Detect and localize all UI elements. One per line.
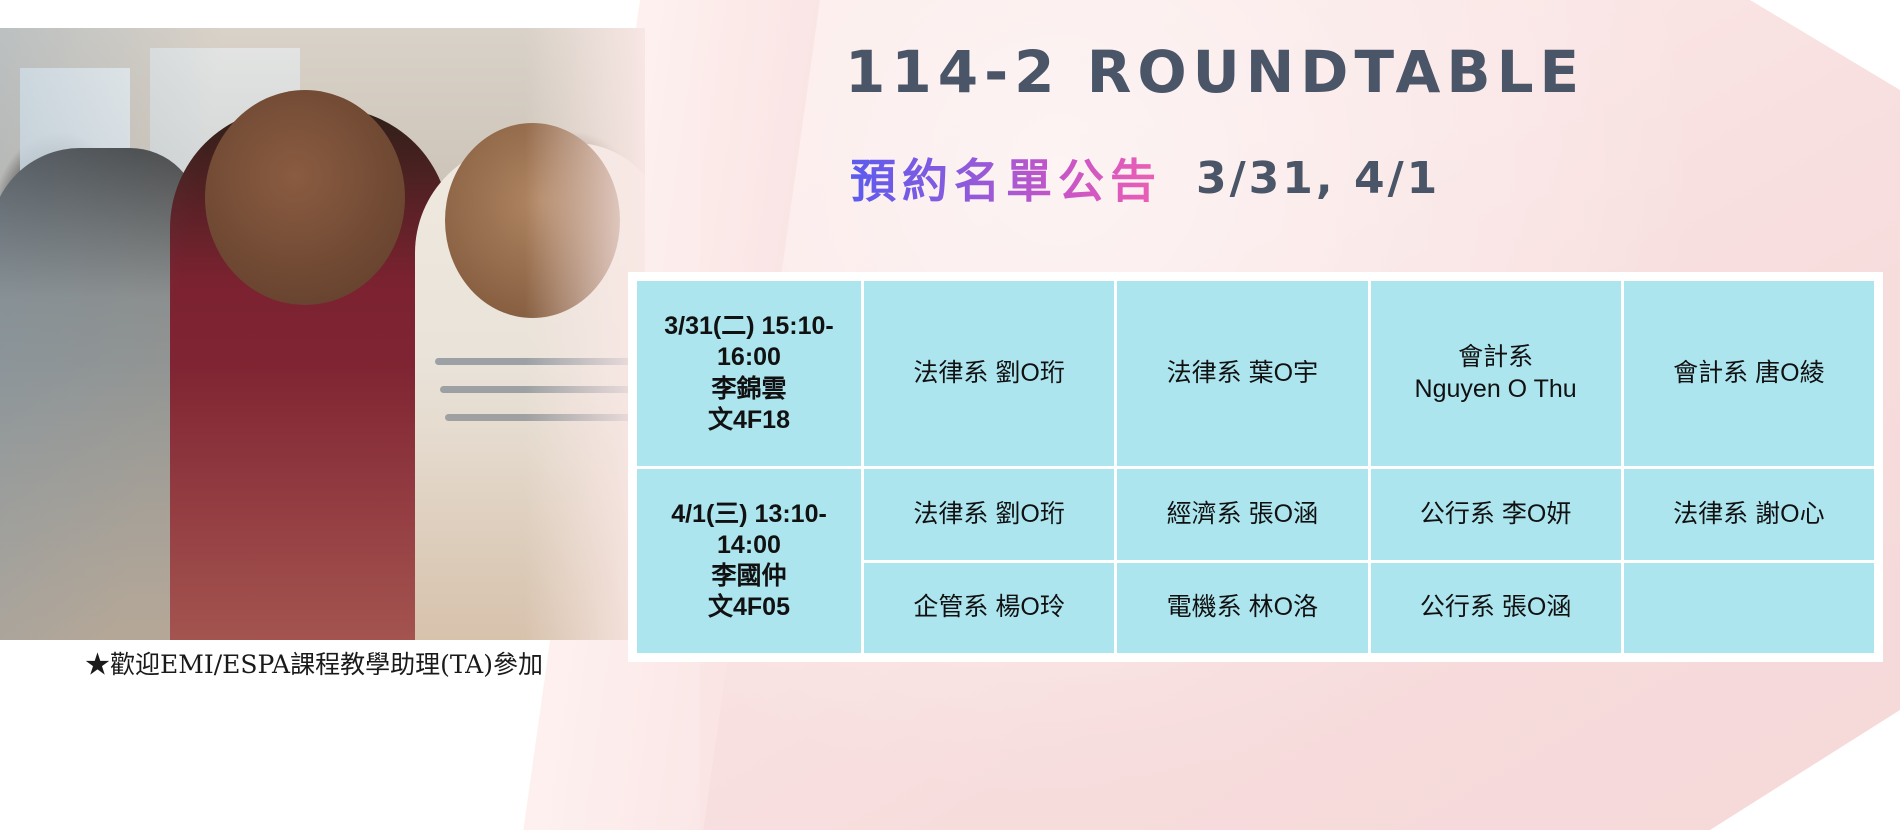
footnote-text: ★歡迎EMI/ESPA課程教學助理(TA)參加 (85, 645, 543, 681)
attendee-cell: 會計系 Nguyen O Thu (1371, 281, 1621, 466)
session-teacher: 李錦雲 (643, 374, 855, 405)
table-row: 4/1(三) 13:10-14:00 李國仲 文4F05 法律系 劉O珩 經濟系… (637, 469, 1874, 559)
session-time-cell: 4/1(三) 13:10-14:00 李國仲 文4F05 (637, 469, 861, 653)
attendee-cell: 公行系 李O妍 (1371, 469, 1621, 559)
session-time: 4/1(三) 13:10-14:00 (643, 499, 855, 562)
poster-canvas: 114-2 ROUNDTABLE 預約名單公告 3/31, 4/1 3/31(二… (0, 0, 1900, 830)
attendee-cell: 法律系 謝O心 (1624, 469, 1874, 559)
poster-title: 114-2 ROUNDTABLE (845, 38, 1585, 106)
session-time: 3/31(二) 15:10-16:00 (643, 311, 855, 374)
attendee-cell-empty (1624, 563, 1874, 653)
attendee-name: 電機系 林O洛 (1123, 592, 1361, 623)
attendee-name: Nguyen O Thu (1377, 374, 1615, 405)
session-teacher: 李國仲 (643, 561, 855, 592)
attendee-name: 法律系 劉O珩 (870, 358, 1108, 389)
attendee-department: 會計系 (1377, 342, 1615, 373)
poster-subtitle-row: 預約名單公告 3/31, 4/1 (850, 145, 1440, 211)
attendee-name: 法律系 葉O宇 (1123, 358, 1361, 389)
attendee-name: 經濟系 張O涵 (1123, 499, 1361, 530)
attendee-cell: 企管系 楊O玲 (864, 563, 1114, 653)
attendee-name: 法律系 謝O心 (1630, 499, 1868, 530)
attendee-name: 公行系 李O妍 (1377, 499, 1615, 530)
attendee-cell: 法律系 劉O珩 (864, 469, 1114, 559)
classroom-photo (0, 28, 645, 640)
white-corner-wedge-top (1750, 0, 1900, 90)
schedule-table-body: 3/31(二) 15:10-16:00 李錦雲 文4F18 法律系 劉O珩 法律… (637, 281, 1874, 653)
session-room: 文4F05 (643, 592, 855, 623)
attendee-cell: 法律系 劉O珩 (864, 281, 1114, 466)
attendee-name: 企管系 楊O玲 (870, 592, 1108, 623)
schedule-table-container: 3/31(二) 15:10-16:00 李錦雲 文4F18 法律系 劉O珩 法律… (628, 272, 1883, 662)
poster-subtitle-chinese: 預約名單公告 (850, 145, 1162, 211)
poster-subtitle-dates: 3/31, 4/1 (1196, 153, 1440, 204)
attendee-cell: 經濟系 張O涵 (1117, 469, 1367, 559)
attendee-name: 會計系 唐O綾 (1630, 358, 1868, 389)
white-corner-wedge-bottom (1710, 710, 1900, 830)
session-time-cell: 3/31(二) 15:10-16:00 李錦雲 文4F18 (637, 281, 861, 466)
attendee-cell: 公行系 張O涵 (1371, 563, 1621, 653)
attendee-cell: 法律系 葉O宇 (1117, 281, 1367, 466)
photo-right-fade (525, 28, 645, 640)
attendee-name: 公行系 張O涵 (1377, 592, 1615, 623)
attendee-name: 法律系 劉O珩 (870, 499, 1108, 530)
schedule-table: 3/31(二) 15:10-16:00 李錦雲 文4F18 法律系 劉O珩 法律… (634, 278, 1877, 656)
table-row: 3/31(二) 15:10-16:00 李錦雲 文4F18 法律系 劉O珩 法律… (637, 281, 1874, 466)
session-room: 文4F18 (643, 405, 855, 436)
attendee-cell: 會計系 唐O綾 (1624, 281, 1874, 466)
attendee-cell: 電機系 林O洛 (1117, 563, 1367, 653)
